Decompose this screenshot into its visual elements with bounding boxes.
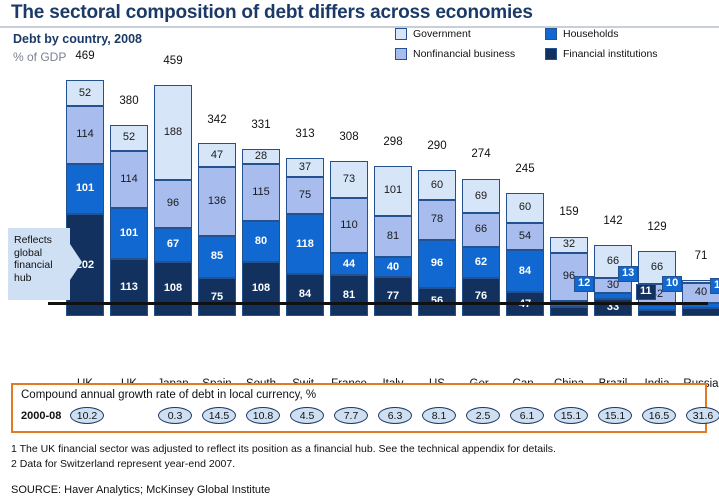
segment-value: 108 — [164, 283, 182, 294]
segment-nonfinancial_business: 66 — [462, 213, 500, 246]
segment-nonfinancial_business: 81 — [374, 216, 412, 257]
segment-value: 40 — [695, 287, 707, 298]
segment-value: 60 — [431, 180, 443, 191]
segment-value: 85 — [211, 251, 223, 262]
segment-value: 101 — [384, 185, 402, 196]
segment-nonfinancial_business: 54 — [506, 223, 544, 250]
cagr-pill-switzerland: 4.5 — [290, 407, 324, 424]
x-axis-baseline — [48, 302, 708, 305]
legend-item-financial_institutions: Financial institutions — [545, 48, 658, 60]
cagr-title: Compound annual growth rate of debt in l… — [21, 389, 316, 401]
segment-households: 101 — [110, 208, 148, 259]
segment-value: 101 — [120, 228, 138, 239]
cagr-pill-russia: 31.6 — [686, 407, 719, 424]
segment-financial_institutions: 113 — [110, 259, 148, 316]
segment-value: 28 — [255, 151, 267, 162]
segment-nonfinancial_business: 78 — [418, 200, 456, 239]
segment-households: 118 — [286, 214, 324, 273]
cagr-pill-italy: 6.3 — [378, 407, 412, 424]
bar-total-label: 469 — [55, 50, 115, 62]
segment-value: 113 — [120, 282, 138, 293]
segment-value: 69 — [475, 191, 487, 202]
legend-item-nonfinancial_business: Nonfinancial business — [395, 48, 515, 60]
footnote-1: 1 The UK financial sector was adjusted t… — [11, 443, 556, 455]
segment-households: 62 — [462, 247, 500, 278]
bar-total-label: 129 — [627, 221, 687, 233]
bar-total-label: 274 — [451, 148, 511, 160]
page-title: The sectoral composition of debt differs… — [11, 2, 651, 24]
segment-households: 96 — [418, 240, 456, 288]
segment-government: 69 — [462, 179, 500, 214]
segment-government: 32 — [550, 237, 588, 253]
segment-value: 66 — [651, 262, 663, 273]
segment-value: 75 — [299, 190, 311, 201]
segment-value: 66 — [475, 224, 487, 235]
segment-value: 52 — [79, 88, 91, 99]
legend-label: Households — [563, 28, 618, 40]
segment-value: 32 — [563, 239, 575, 250]
legend-swatch-financial_institutions — [545, 48, 557, 60]
legend-label: Nonfinancial business — [413, 48, 515, 60]
segment-households: 84 — [506, 250, 544, 292]
callout-arrow-icon — [70, 244, 82, 280]
segment-financial_institutions: 76 — [462, 278, 500, 316]
bar-us[interactable]: 60789656 — [418, 170, 456, 316]
bar-total-label: 245 — [495, 163, 555, 175]
legend-swatch-nonfinancial_business — [395, 48, 407, 60]
segment-value: 108 — [252, 283, 270, 294]
segment-financial_institutions: 16 — [682, 308, 719, 316]
segment-callout-households: 13 — [618, 266, 638, 282]
footnote-2: 2 Data for Switzerland represent year-en… — [11, 458, 235, 470]
segment-government: 28 — [242, 149, 280, 163]
bar-total-label: 459 — [143, 55, 203, 67]
segment-callout-financial_institutions: 11 — [636, 284, 656, 300]
segment-value: 60 — [519, 202, 531, 213]
segment-value: 47 — [211, 150, 223, 161]
segment-value: 84 — [519, 266, 531, 277]
legend-item-government: Government — [395, 28, 471, 40]
segment-financial_institutions: 108 — [242, 262, 280, 316]
bar-france[interactable]: 731104481 — [330, 161, 368, 316]
cagr-pill-brazil: 15.1 — [598, 407, 632, 424]
segment-callout-households: 10 — [662, 276, 682, 292]
segment-financial_institutions: 18 — [550, 307, 588, 316]
segment-value: 37 — [299, 162, 311, 173]
segment-value: 40 — [387, 262, 399, 273]
legend-label: Financial institutions — [563, 48, 658, 60]
segment-value: 44 — [343, 259, 355, 270]
segment-value: 136 — [208, 196, 226, 207]
stacked-bar-chart: 52114101202469UK52114101113380UKad-juste… — [0, 66, 719, 316]
segment-nonfinancial_business: 115 — [242, 164, 280, 222]
cagr-period-label: 2000-08 — [21, 410, 61, 422]
cagr-pill-china: 15.1 — [554, 407, 588, 424]
chart-subtitle: Debt by country, 2008 — [13, 32, 142, 46]
segment-households: 85 — [198, 236, 236, 279]
segment-government: 188 — [154, 85, 192, 180]
segment-value: 73 — [343, 174, 355, 185]
segment-value: 188 — [164, 127, 182, 138]
segment-government: 101 — [374, 166, 412, 217]
segment-value: 54 — [519, 231, 531, 242]
segment-financial_institutions: 77 — [374, 277, 412, 316]
segment-value: 115 — [252, 187, 270, 198]
segment-financial_institutions: 81 — [330, 275, 368, 316]
segment-government: 37 — [286, 158, 324, 177]
segment-value: 101 — [76, 183, 94, 194]
segment-value: 96 — [167, 198, 179, 209]
segment-financial_institutions: 84 — [286, 274, 324, 316]
segment-value: 81 — [387, 231, 399, 242]
segment-nonfinancial_business: 110 — [330, 198, 368, 253]
segment-households: 44 — [330, 253, 368, 275]
bar-switzerland[interactable]: 377511884 — [286, 158, 324, 316]
bar-uk-adjusted[interactable]: 52114101113 — [110, 125, 148, 316]
legend-label: Government — [413, 28, 471, 40]
cagr-pill-spain: 14.5 — [202, 407, 236, 424]
segment-nonfinancial_business: 75 — [286, 177, 324, 215]
chart-legend: GovernmentNonfinancial businessHousehold… — [395, 28, 685, 68]
segment-government: 73 — [330, 161, 368, 198]
bar-germany[interactable]: 69666276 — [462, 179, 500, 316]
segment-value: 114 — [76, 129, 94, 140]
cagr-pill-south-korea: 10.8 — [246, 407, 280, 424]
cagr-pill-japan: 0.3 — [158, 407, 192, 424]
segment-value: 77 — [387, 291, 399, 302]
bar-spain[interactable]: 471368575 — [198, 143, 236, 316]
segment-callout-households: 10 — [710, 278, 719, 294]
legend-item-households: Households — [545, 28, 618, 40]
segment-nonfinancial_business: 114 — [66, 106, 104, 163]
segment-households: 101 — [66, 164, 104, 215]
segment-value: 110 — [340, 220, 358, 231]
legend-swatch-government — [395, 28, 407, 40]
segment-nonfinancial_business: 114 — [110, 151, 148, 208]
segment-value: 80 — [255, 236, 267, 247]
segment-nonfinancial_business: 136 — [198, 167, 236, 235]
bar-italy[interactable]: 101814077 — [374, 166, 412, 316]
segment-financial_institutions: 75 — [198, 278, 236, 316]
segment-value: 118 — [296, 239, 314, 250]
legend-swatch-households — [545, 28, 557, 40]
segment-value: 62 — [475, 257, 487, 268]
segment-government: 47 — [198, 143, 236, 167]
segment-value: 76 — [475, 291, 487, 302]
segment-financial_institutions: 108 — [154, 262, 192, 316]
source-line: SOURCE: Haver Analytics; McKinsey Global… — [11, 484, 270, 496]
bar-south-korea[interactable]: 2811580108 — [242, 149, 280, 316]
cagr-pill-germany: 2.5 — [466, 407, 500, 424]
segment-value: 75 — [211, 292, 223, 303]
cagr-panel: Compound annual growth rate of debt in l… — [11, 383, 707, 433]
segment-nonfinancial_business: 96 — [154, 180, 192, 228]
segment-callout-households: 12 — [574, 276, 594, 292]
segment-value: 67 — [167, 239, 179, 250]
reflects-global-financial-hub-callout: Reflects global financial hub — [8, 228, 70, 300]
segment-value: 96 — [431, 258, 443, 269]
bar-uk[interactable]: 52114101202 — [66, 80, 104, 316]
segment-value: 52 — [123, 132, 135, 143]
segment-value: 114 — [120, 174, 138, 185]
segment-households: 40 — [374, 257, 412, 277]
segment-value: 84 — [299, 289, 311, 300]
cagr-pill-uk: 10.2 — [70, 407, 104, 424]
cagr-pill-us: 8.1 — [422, 407, 456, 424]
cagr-pill-india: 16.5 — [642, 407, 676, 424]
segment-value: 81 — [343, 290, 355, 301]
segment-financial_institutions: 11 — [638, 310, 676, 316]
bar-total-label: 71 — [671, 250, 719, 262]
bar-total-label: 380 — [99, 95, 159, 107]
segment-value: 78 — [431, 214, 443, 225]
segment-households: 80 — [242, 221, 280, 261]
cagr-pill-canada: 6.1 — [510, 407, 544, 424]
segment-government: 52 — [110, 125, 148, 151]
cagr-pill-france: 7.7 — [334, 407, 368, 424]
segment-households: 67 — [154, 228, 192, 262]
segment-government: 60 — [418, 170, 456, 200]
